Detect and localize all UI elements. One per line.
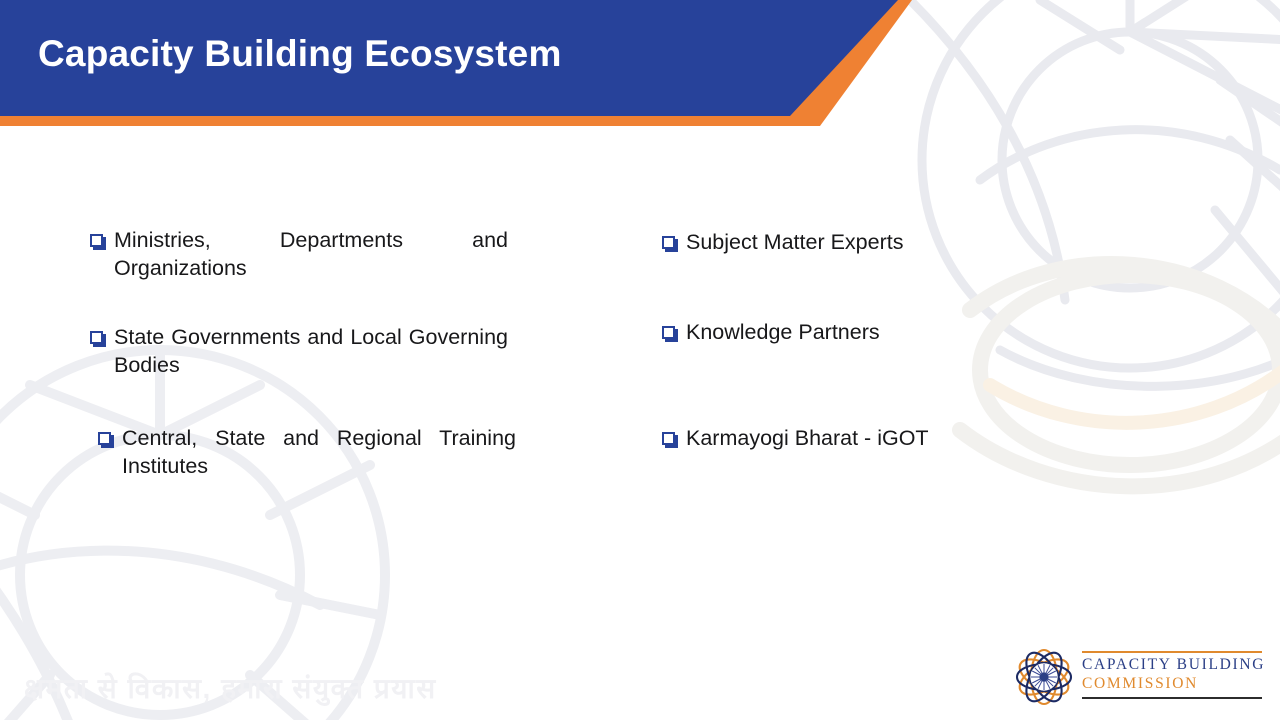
square-bullet-icon	[98, 432, 111, 445]
list-item[interactable]: Knowledge Partners	[662, 318, 1042, 346]
logo-wordmark: CAPACITY BUILDING COMMISSION	[1082, 646, 1262, 706]
list-item-label: Central, State and Regional Training Ins…	[122, 424, 516, 480]
logo-line-capacity-building: CAPACITY BUILDING	[1082, 656, 1265, 674]
square-bullet-icon	[662, 326, 675, 339]
list-item[interactable]: Ministries, Departments and Organization…	[90, 226, 508, 282]
list-item[interactable]: Karmayogi Bharat - iGOT	[662, 424, 1042, 452]
logo-top-rule	[1082, 651, 1262, 653]
list-item-label: Knowledge Partners	[686, 318, 880, 346]
list-item-label: Karmayogi Bharat - iGOT	[686, 424, 929, 452]
list-item[interactable]: Subject Matter Experts	[662, 228, 1042, 256]
square-bullet-icon	[662, 432, 675, 445]
list-item-label: Subject Matter Experts	[686, 228, 903, 256]
slide-canvas: Capacity Building Ecosystem Ministries, …	[0, 0, 1280, 720]
list-item-label: State Governments and Local Governing Bo…	[114, 323, 508, 379]
content-area: Ministries, Departments and Organization…	[0, 212, 1280, 532]
square-bullet-icon	[662, 236, 675, 249]
slide-header-banner: Capacity Building Ecosystem	[0, 0, 920, 126]
list-item-label: Ministries, Departments and Organization…	[114, 226, 508, 282]
list-item[interactable]: Central, State and Regional Training Ins…	[98, 424, 516, 480]
hindi-tagline: क्षमता से विकास, हमारा संयुक्त प्रयास	[24, 669, 437, 707]
square-bullet-icon	[90, 234, 103, 247]
square-bullet-icon	[90, 331, 103, 344]
ashoka-chakra-emblem-icon	[1012, 648, 1076, 706]
list-item[interactable]: State Governments and Local Governing Bo…	[90, 323, 508, 379]
logo-line-commission: COMMISSION	[1082, 675, 1198, 693]
page-title: Capacity Building Ecosystem	[38, 33, 562, 75]
logo-bottom-rule	[1082, 697, 1262, 699]
capacity-building-commission-logo: CAPACITY BUILDING COMMISSION	[1012, 646, 1262, 708]
